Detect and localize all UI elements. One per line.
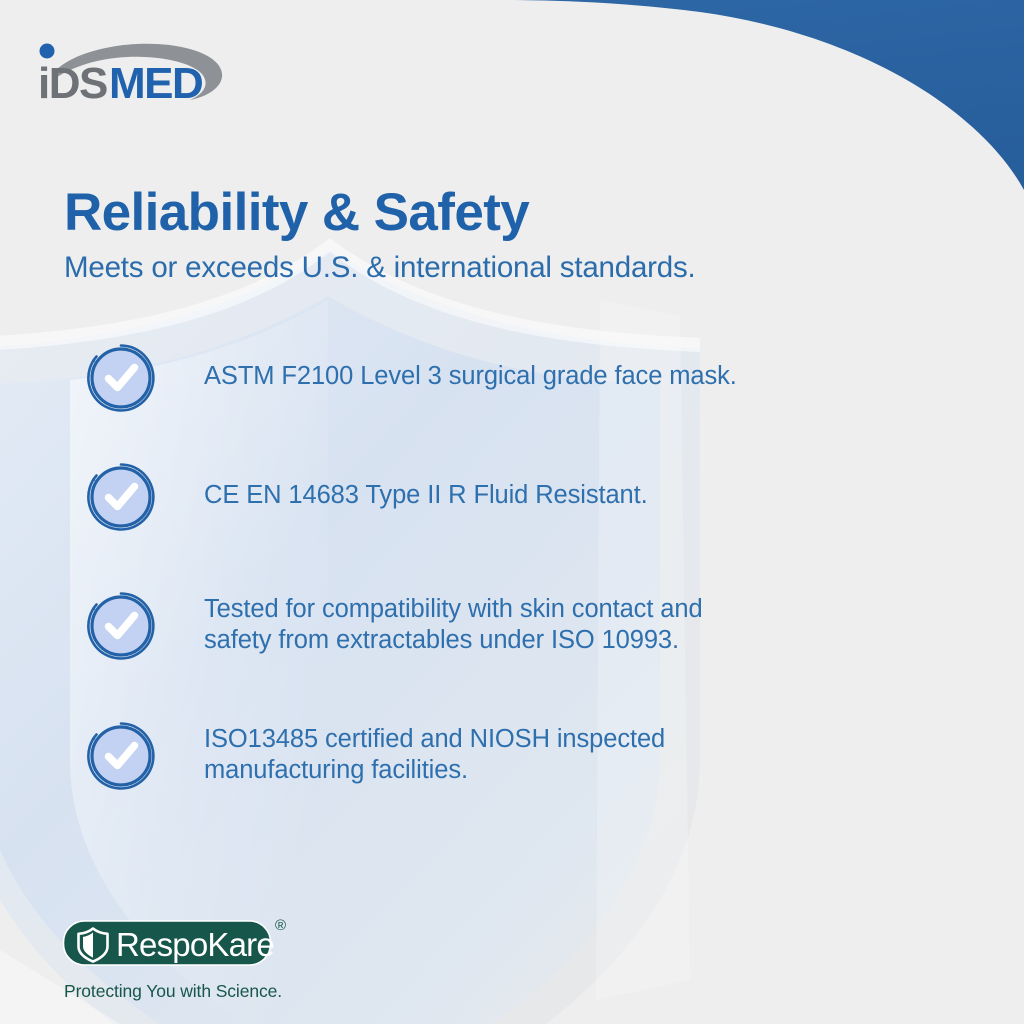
poster-canvas: iDS MED Reliability & Safety Meets or ex… — [0, 0, 1024, 1024]
idsmed-logo[interactable]: iDS MED — [34, 40, 234, 108]
check-circle-icon — [82, 338, 160, 416]
list-item-label: Tested for compatibility with skin conta… — [204, 594, 703, 656]
page-subtitle: Meets or exceeds U.S. & international st… — [64, 252, 884, 284]
registered-mark: ® — [275, 917, 286, 934]
respokare-brand-block: RespoKare ® Protecting You with Science. — [62, 915, 362, 1001]
list-item-label: ISO13485 certified and NIOSH inspected m… — [204, 724, 665, 786]
idsmed-dot-icon — [40, 44, 55, 59]
list-item: ISO13485 certified and NIOSH inspected m… — [82, 716, 912, 794]
check-circle-icon — [82, 457, 160, 535]
list-item: Tested for compatibility with skin conta… — [82, 586, 912, 664]
headline-block: Reliability & Safety Meets or exceeds U.… — [64, 186, 884, 284]
list-item: ASTM F2100 Level 3 surgical grade face m… — [82, 338, 912, 416]
list-item-label: ASTM F2100 Level 3 surgical grade face m… — [204, 361, 737, 392]
respokare-logo[interactable]: RespoKare ® — [62, 915, 294, 969]
check-circle-icon — [82, 586, 160, 664]
list-item: CE EN 14683 Type II R Fluid Resistant. — [82, 457, 912, 535]
blue-corner-fill — [505, 0, 1024, 190]
idsmed-wordmark-blue: MED — [109, 59, 202, 108]
list-item-label: CE EN 14683 Type II R Fluid Resistant. — [204, 480, 648, 511]
page-title: Reliability & Safety — [64, 186, 884, 239]
respokare-tagline: Protecting You with Science. — [64, 983, 362, 1001]
check-circle-icon — [82, 716, 160, 794]
respokare-wordmark: RespoKare — [116, 926, 274, 963]
idsmed-wordmark-gray: iDS — [38, 59, 107, 108]
